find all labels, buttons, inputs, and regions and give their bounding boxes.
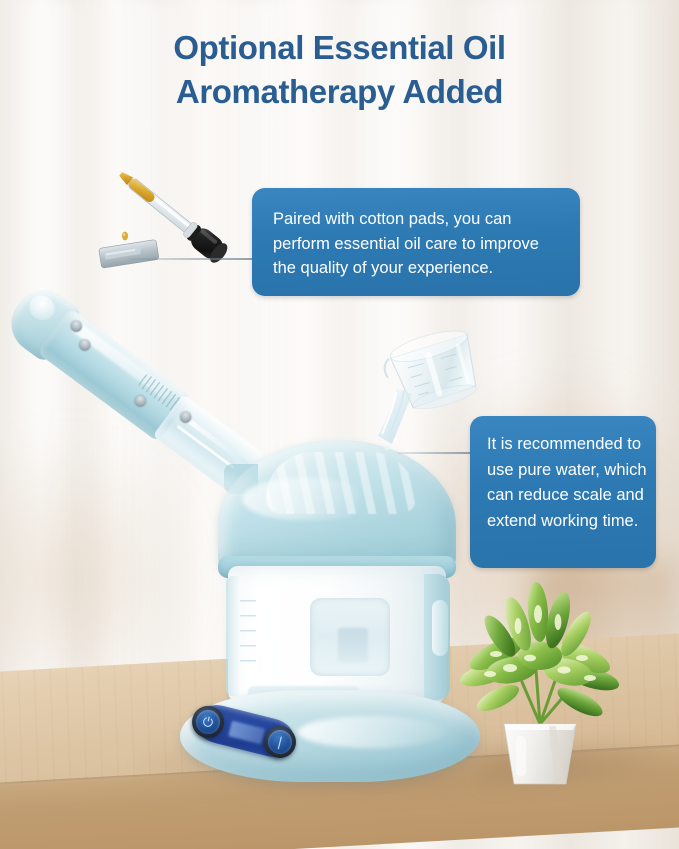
control-panel-label xyxy=(228,721,265,745)
lid-highlight xyxy=(242,478,360,520)
dropper-icon xyxy=(96,160,246,270)
water-tank xyxy=(228,566,446,706)
essential-oil-callout-text: Paired with cotton pads, you can perform… xyxy=(273,210,539,277)
callout-connector-line-oil xyxy=(128,258,254,260)
product-infographic: Optional Essential Oil Aromatherapy Adde… xyxy=(0,0,679,849)
power-knob-face: ⏻ xyxy=(193,707,222,736)
pure-water-callout-text: It is recommended to use pure water, whi… xyxy=(487,435,647,530)
tank-window xyxy=(310,598,390,676)
page-title-line-1: Optional Essential Oil xyxy=(173,29,505,66)
page-title: Optional Essential Oil Aromatherapy Adde… xyxy=(0,26,679,114)
power-icon: ⏻ xyxy=(201,714,214,729)
essential-oil-dropper xyxy=(96,160,246,270)
tank-level-scale xyxy=(240,600,256,666)
tank-left-edge xyxy=(226,576,240,696)
nozzle-clear-highlight xyxy=(181,414,250,467)
base-highlight xyxy=(298,716,446,748)
essential-oil-callout[interactable]: Paired with cotton pads, you can perform… xyxy=(252,188,580,296)
mode-knob-face: ∣ xyxy=(265,727,294,756)
nozzle-cap-highlight xyxy=(24,290,59,325)
page-title-line-2: Aromatherapy Added xyxy=(0,70,679,114)
pure-water-callout[interactable]: It is recommended to use pure water, whi… xyxy=(470,416,656,568)
callout-connector-line-water xyxy=(398,452,472,454)
mode-icon: ∣ xyxy=(275,735,284,749)
tank-water-level xyxy=(338,628,368,662)
tank-handle[interactable] xyxy=(432,600,448,656)
